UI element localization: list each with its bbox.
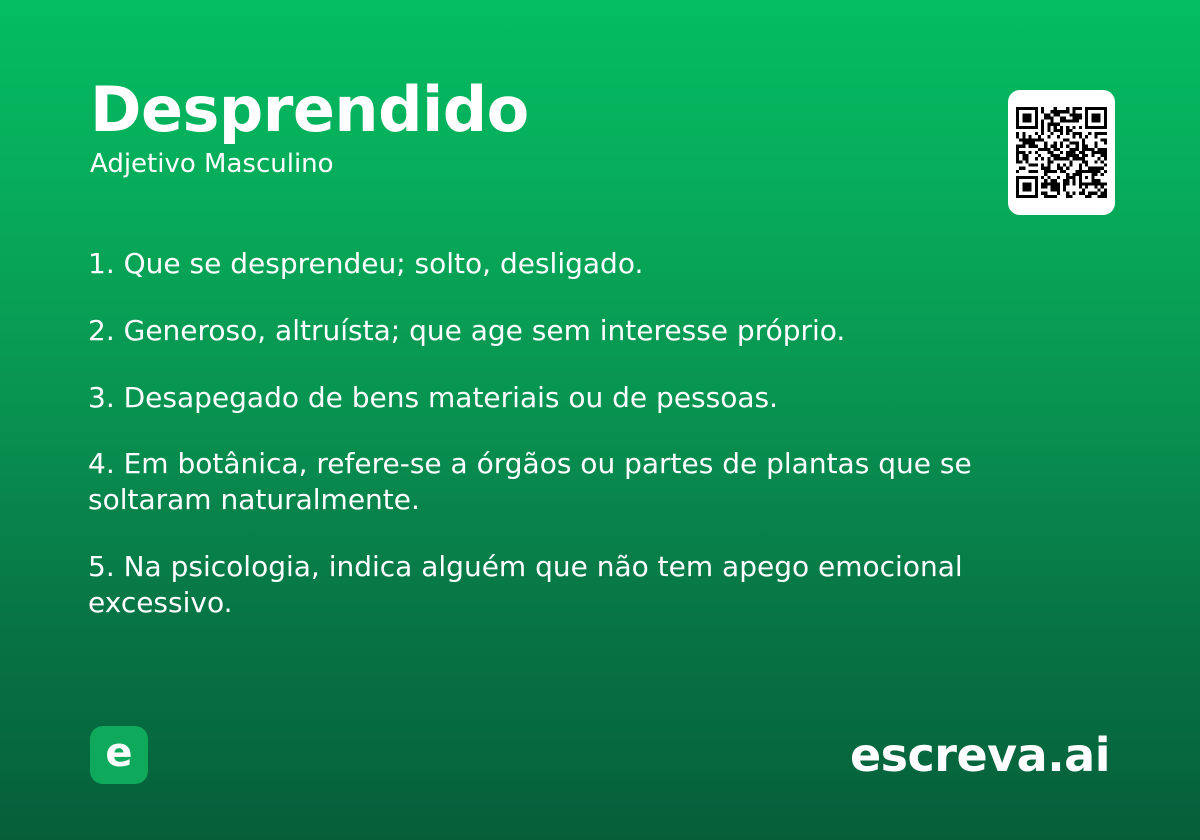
list-item: 1. Que se desprendeu; solto, desligado. <box>88 246 1078 282</box>
page-title: Desprendido <box>90 78 1110 141</box>
qr-code-icon <box>1016 107 1107 198</box>
list-item: 4. Em botânica, refere-se a órgãos ou pa… <box>88 446 1078 518</box>
list-item: 2. Generoso, altruísta; que age sem inte… <box>88 313 1078 349</box>
brand-logo-letter: e <box>105 733 132 773</box>
definition-list: 1. Que se desprendeu; solto, desligado. … <box>88 246 1088 621</box>
brand-wordmark: escreva.ai <box>850 732 1110 778</box>
card-header: Desprendido Adjetivo Masculino <box>90 78 1110 179</box>
card-footer: e escreva.ai <box>0 724 1200 786</box>
list-item: 5. Na psicologia, indica alguém que não … <box>88 549 1078 621</box>
dictionary-card: Desprendido Adjetivo Masculino 1. Que se… <box>0 0 1200 840</box>
list-item: 3. Desapegado de bens materiais ou de pe… <box>88 380 1078 416</box>
word-class-label: Adjetivo Masculino <box>90 150 1110 179</box>
brand-logo[interactable]: e <box>90 726 148 784</box>
qr-code-card[interactable] <box>1008 90 1115 215</box>
